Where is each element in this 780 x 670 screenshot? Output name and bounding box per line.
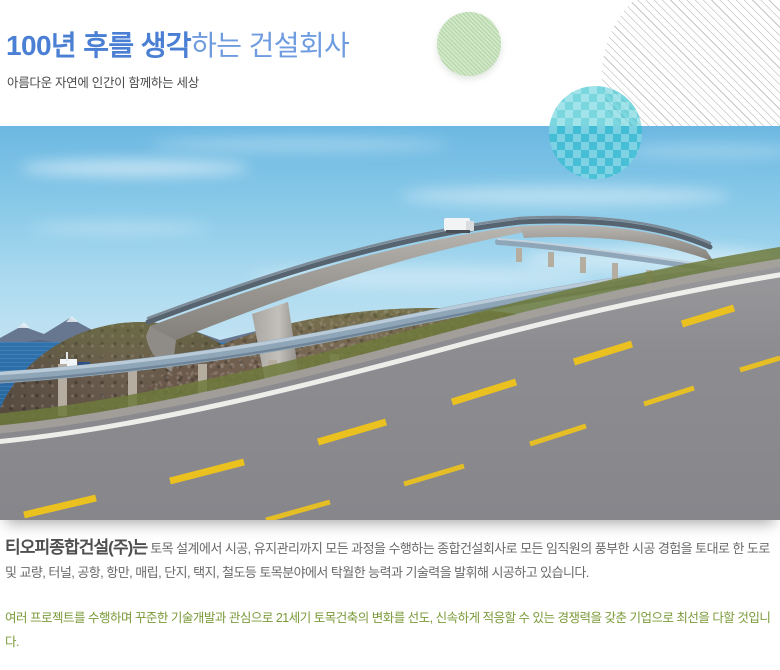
hero-image [0, 126, 780, 520]
page-title: 100년 후를 생각하는 건설회사 [6, 29, 349, 63]
page-title-light: 하는 건설회사 [191, 30, 349, 61]
page-title-strong: 100년 후를 생각 [6, 30, 191, 61]
striped-green-circle-icon [437, 12, 501, 76]
road-surface [0, 126, 780, 520]
page-subtitle: 아름다운 자연에 인간이 함께하는 세상 [7, 74, 199, 92]
hero-canvas [0, 126, 780, 520]
intro-paragraph: 티오피종합건설(주)는 토목 설계에서 시공, 유지관리까지 모든 과정을 수행… [5, 536, 777, 585]
page-root: 100년 후를 생각하는 건설회사 아름다운 자연에 인간이 함께하는 세상 [0, 0, 780, 670]
company-name: 티오피종합건설(주)는 [5, 538, 147, 557]
mission-paragraph: 여러 프로젝트를 수행하며 꾸준한 기술개발과 관심으로 21세기 토목건축의 … [5, 606, 777, 654]
